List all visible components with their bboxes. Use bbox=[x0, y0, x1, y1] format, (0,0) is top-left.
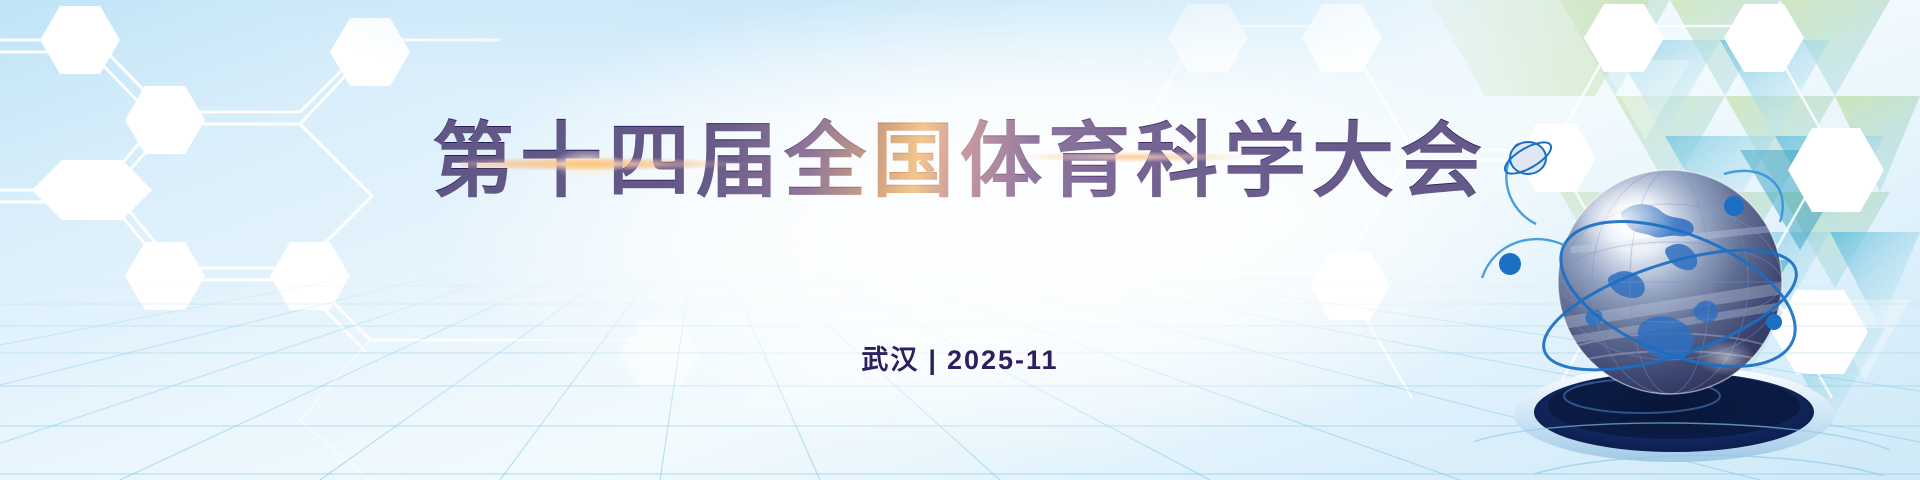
event-location: 武汉 bbox=[861, 345, 919, 375]
meta-separator: | bbox=[919, 345, 947, 375]
event-date: 2025-11 bbox=[947, 345, 1059, 375]
subtitle-block: 武汉|2025-11 bbox=[0, 338, 1920, 377]
event-meta: 武汉|2025-11 bbox=[861, 338, 1058, 377]
page-title: 第十四届全国体育科学大会 bbox=[432, 118, 1488, 207]
conference-banner: 第十四届全国体育科学大会 武汉|2025-11 bbox=[0, 0, 1920, 480]
title-block: 第十四届全国体育科学大会 bbox=[0, 118, 1920, 207]
